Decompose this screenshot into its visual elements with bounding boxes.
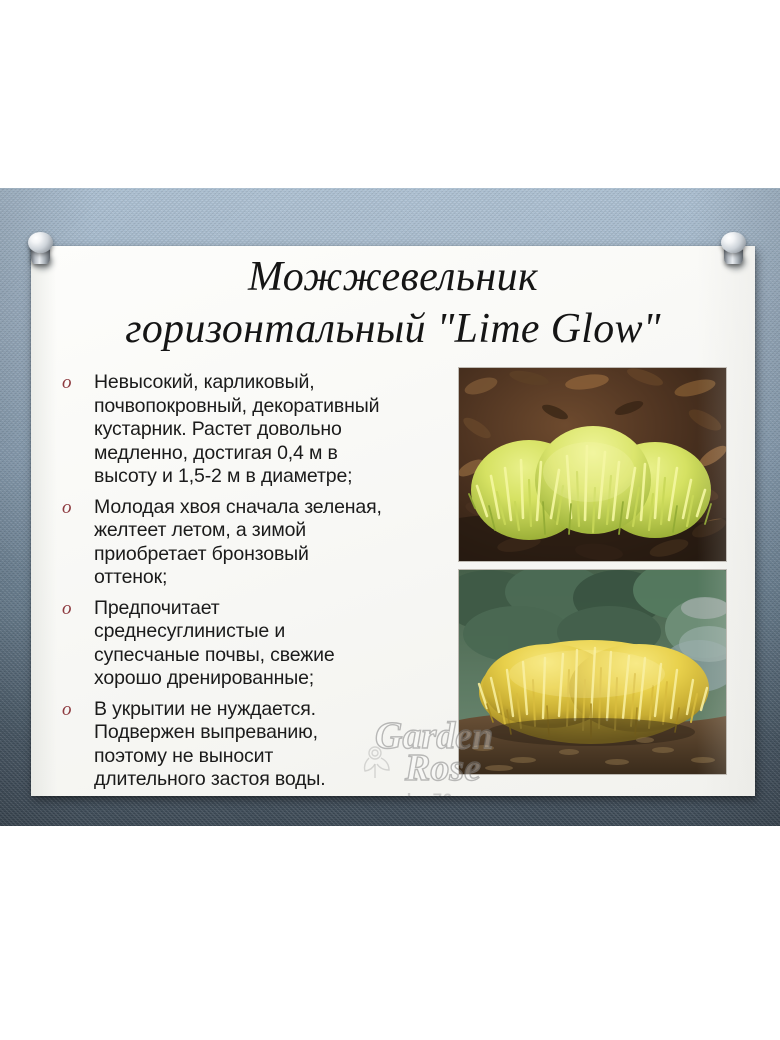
bullet-marker-icon: o bbox=[62, 598, 72, 620]
bullet-habit-text: Невысокий, карликовый, почвопокровный, д… bbox=[94, 371, 379, 487]
bullet-foliage-text: Молодая хвоя сначала зеленая, желтеет ле… bbox=[94, 496, 382, 589]
list-item: o Молодая хвоя сначала зеленая, желтеет … bbox=[58, 496, 453, 590]
bullet-marker-icon: o bbox=[62, 699, 72, 721]
juniper-photo-bottom bbox=[459, 570, 726, 774]
bullet-soil-text: Предпочитает среднесуглинистые и супесча… bbox=[94, 597, 335, 690]
screenshot-canvas: Можжевельник горизонтальный "Lime Glow" … bbox=[0, 0, 780, 1040]
bullet-list: o Невысокий, карликовый, почвопокровный,… bbox=[58, 371, 453, 796]
list-item: o Невысокий, карликовый, почвопокровный,… bbox=[58, 371, 453, 489]
bullet-marker-icon: o bbox=[62, 372, 72, 394]
info-poster-card: Можжевельник горизонтальный "Lime Glow" … bbox=[31, 246, 755, 796]
juniper-photo-top bbox=[459, 368, 726, 561]
bullet-marker-icon: o bbox=[62, 497, 72, 519]
list-item: o Предпочитает среднесуглинистые и супес… bbox=[58, 597, 453, 691]
list-item: o В укрытии не нуждается. Подвержен выпр… bbox=[58, 698, 453, 792]
page-title: Можжевельник горизонтальный "Lime Glow" bbox=[31, 252, 755, 356]
juniper-photo-bottom-graphic bbox=[459, 570, 726, 774]
bullet-winter-text: В укрытии не нуждается. Подвержен выпрев… bbox=[94, 698, 326, 791]
title-line-2: горизонтальный "Lime Glow" bbox=[33, 302, 753, 356]
juniper-photo-top-graphic bbox=[459, 368, 726, 561]
title-line-1: Можжевельник bbox=[31, 252, 755, 302]
